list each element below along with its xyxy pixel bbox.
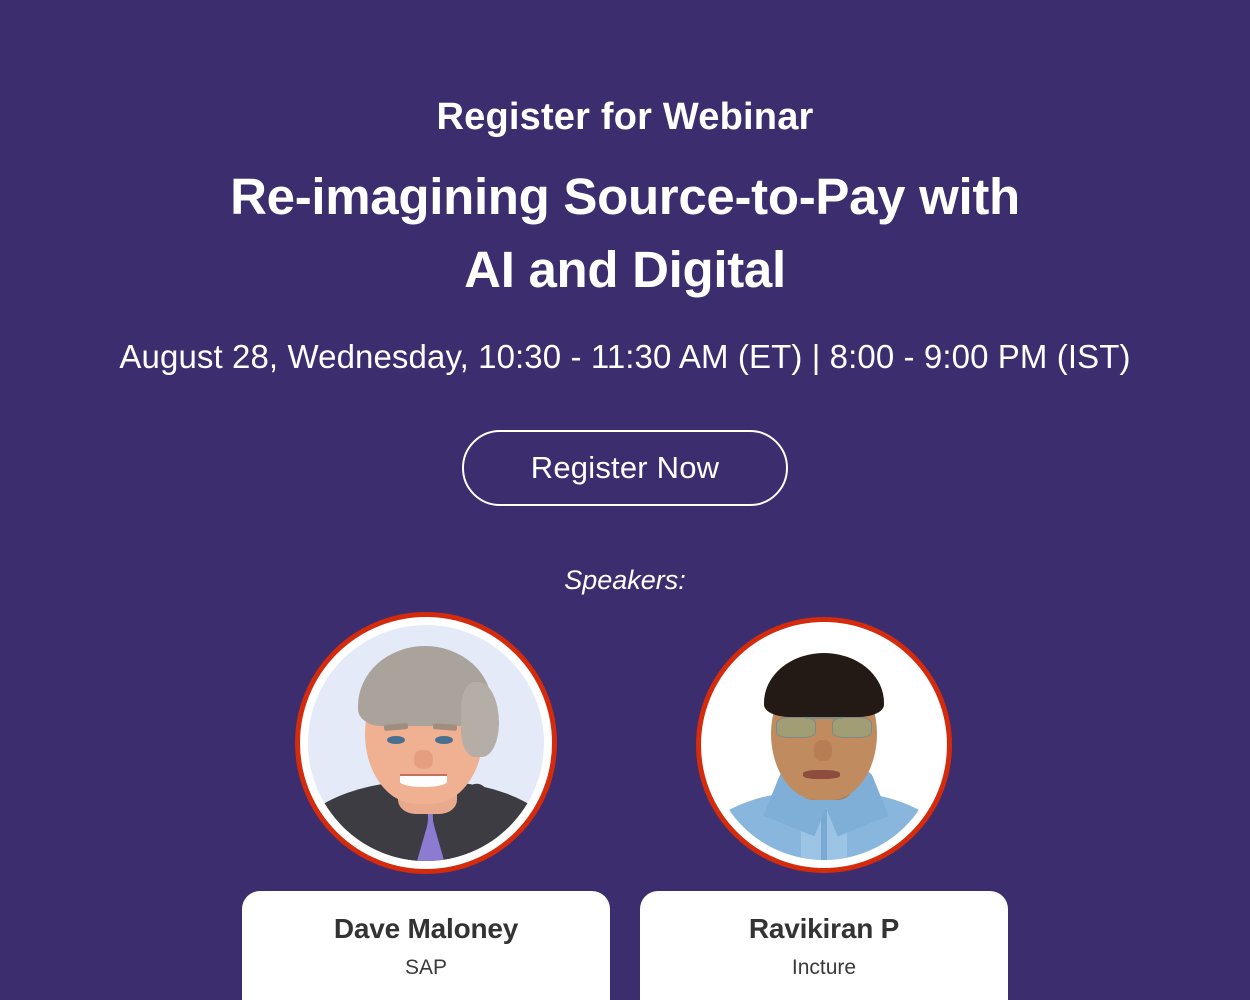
webinar-headline: Re-imagining Source-to-Pay with AI and D… [0, 160, 1250, 306]
avatar-photo [709, 630, 939, 860]
speaker-organization: SAP [242, 954, 610, 982]
speaker-name: Dave Maloney [242, 912, 610, 946]
speaker-name: Ravikiran P [640, 912, 1008, 946]
speaker-organization: Incture [640, 954, 1008, 982]
webinar-schedule: August 28, Wednesday, 10:30 - 11:30 AM (… [0, 335, 1250, 379]
speaker-name-card: Dave Maloney SAP [242, 891, 610, 1000]
webinar-promo-banner: Register for Webinar Re-imagining Source… [0, 0, 1250, 1000]
speaker-card-dave-maloney: Dave Maloney SAP [242, 608, 610, 1000]
speaker-name-card: Ravikiran P Incture [640, 891, 1008, 1000]
headline-line-2: AI and Digital [0, 233, 1250, 306]
avatar [295, 612, 557, 874]
cta-container: Register Now [0, 430, 1250, 506]
portrait-illustration [709, 630, 939, 860]
avatar-photo [308, 625, 544, 861]
portrait-illustration [308, 625, 544, 861]
register-now-button[interactable]: Register Now [462, 430, 788, 506]
speakers-label: Speakers: [0, 562, 1250, 598]
speakers-row: Dave Maloney SAP [0, 608, 1250, 1000]
speaker-avatar-holder [696, 617, 952, 873]
speaker-avatar-holder [295, 612, 557, 874]
avatar [696, 617, 952, 873]
headline-line-1: Re-imagining Source-to-Pay with [0, 160, 1250, 233]
speaker-card-ravikiran-p: Ravikiran P Incture [640, 608, 1008, 1000]
webinar-eyebrow-title: Register for Webinar [0, 93, 1250, 141]
